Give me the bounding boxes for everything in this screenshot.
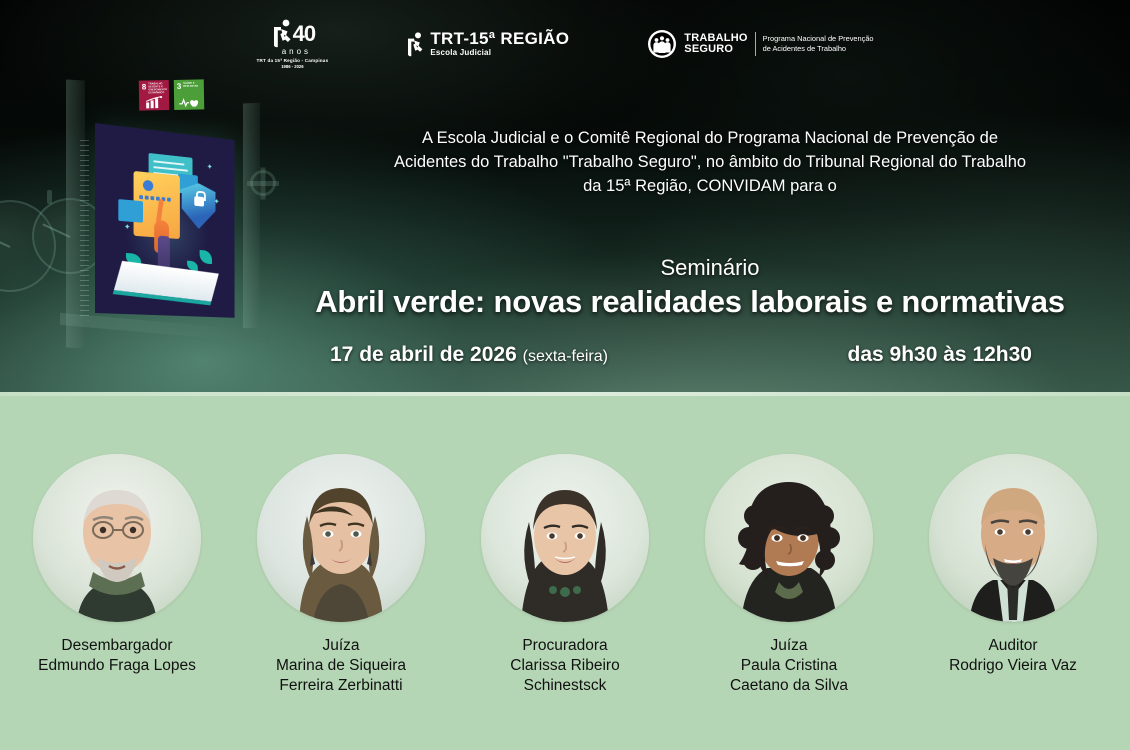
speaker-card: Juíza Marina de Siqueira Ferreira Zerbin… [255, 454, 427, 696]
logo-trt15: TRT-15ª REGIÃO Escola Judicial [406, 30, 569, 58]
speaker-name-line-2: Caetano da Silva [730, 676, 848, 696]
user-avatar-icon [143, 180, 153, 192]
event-schedule: 17 de abril de 2026 (sexta-feira) das 9h… [330, 343, 1090, 367]
data-security-illustration: ✦ ✦ ✦ [95, 123, 235, 318]
sparkle-icon: ✦ [207, 163, 213, 171]
sdg-badge-8: 8 TRABALHO DECENTE E CRESCIMENTO ECONÔMI… [139, 80, 170, 111]
people-circle-icon [647, 29, 677, 59]
logo-trt15-title: TRT-15ª REGIÃO [430, 30, 569, 47]
portrait-paula [705, 454, 873, 622]
logo-ts-line2: SEGURO [684, 44, 747, 55]
trt-runner-icon [406, 32, 425, 58]
sdg-title: SAÚDE E BEM-ESTAR [183, 82, 201, 88]
speaker-card: Procuradora Clarissa Ribeiro Schinestsck [479, 454, 651, 696]
invitation-line-1: A Escola Judicial e o Comitê Regional do… [300, 126, 1120, 150]
speaker-role: Auditor [949, 636, 1077, 656]
logo-ts-desc-line1: Programa Nacional de Prevenção [763, 34, 874, 44]
speaker-name: Juíza Paula Cristina Caetano da Silva [730, 636, 848, 696]
speaker-role: Juíza [730, 636, 848, 656]
logo-bar: 40 anos TRT da 15ª Região - Campinas 198… [0, 16, 1130, 72]
portrait-clarissa [481, 454, 649, 622]
event-title: Abril verde: novas realidades laborais e… [260, 283, 1120, 321]
image-icon [118, 199, 143, 223]
speaker-name-line-1: Clarissa Ribeiro [510, 656, 619, 676]
logo-trt15-subtitle: Escola Judicial [430, 48, 569, 57]
speaker-role: Desembargador [38, 636, 196, 656]
speaker-card: Desembargador Edmundo Fraga Lopes [31, 454, 203, 676]
speaker-name-line-2: Schinestsck [510, 676, 619, 696]
speaker-name: Auditor Rodrigo Vieira Vaz [949, 636, 1077, 676]
speaker-name-line-1: Edmundo Fraga Lopes [38, 656, 196, 676]
invitation-line-2: Acidentes do Trabalho "Trabalho Seguro",… [300, 150, 1120, 174]
logo-trabalho-seguro: TRABALHO SEGURO Programa Nacional de Pre… [647, 29, 873, 59]
speaker-card: Auditor Rodrigo Vieira Vaz [927, 454, 1099, 676]
logo-40-years: 1986 - 2026 [281, 64, 303, 69]
portrait-edmundo [33, 454, 201, 622]
speaker-name-line-2: Ferreira Zerbinatti [276, 676, 406, 696]
speaker-name-line-1: Marina de Siqueira [276, 656, 406, 676]
section-divider [0, 392, 1130, 396]
event-weekday: (sexta-feira) [523, 348, 608, 365]
speaker-name-line-1: Rodrigo Vieira Vaz [949, 656, 1077, 676]
event-time: das 9h30 às 12h30 [848, 343, 1090, 367]
speaker-name: Juíza Marina de Siqueira Ferreira Zerbin… [276, 636, 406, 696]
sparkle-icon: ✦ [124, 223, 130, 231]
background-easel-base [60, 313, 270, 343]
event-date: 17 de abril de 2026 (sexta-feira) [330, 343, 608, 367]
background-gauge-stem [47, 190, 52, 204]
background-easel-post [243, 103, 260, 329]
portrait-marina [257, 454, 425, 622]
logo-40-number: 40 [293, 24, 315, 44]
speaker-card: Juíza Paula Cristina Caetano da Silva [703, 454, 875, 696]
portrait-rodrigo [929, 454, 1097, 622]
lock-icon [194, 196, 204, 206]
background-cog-icon [250, 170, 276, 196]
sdg-badges: 8 TRABALHO DECENTE E CRESCIMENTO ECONÔMI… [139, 79, 205, 110]
poster-hero-background: 8 TRABALHO DECENTE E CRESCIMENTO ECONÔMI… [0, 0, 1130, 392]
speaker-role: Procuradora [510, 636, 619, 656]
sparkle-icon: ✦ [214, 198, 220, 206]
speaker-name: Procuradora Clarissa Ribeiro Schinestsck [510, 636, 619, 696]
heartbeat-icon [177, 89, 201, 109]
logo-divider [755, 32, 756, 56]
logo-40-anos-word: anos [282, 47, 311, 56]
sdg-badge-3: 3 SAÚDE E BEM-ESTAR [174, 79, 205, 110]
logo-40-subtitle: TRT da 15ª Região - Campinas [256, 58, 328, 63]
speaker-role: Juíza [276, 636, 406, 656]
background-ruler-icon [80, 140, 89, 320]
sdg-number: 8 [142, 83, 147, 90]
logo-40-anos: 40 anos TRT da 15ª Região - Campinas 198… [256, 19, 328, 69]
logo-ts-desc-line2: de Acidentes de Trabalho [763, 44, 874, 54]
speakers-list: Desembargador Edmundo Fraga Lopes [0, 454, 1130, 696]
event-kind: Seminário [300, 255, 1120, 281]
growth-chart-icon [142, 95, 166, 111]
speaker-name-line-1: Paula Cristina [730, 656, 848, 676]
invitation-text: A Escola Judicial e o Comitê Regional do… [300, 126, 1120, 198]
speakers-panel: Desembargador Edmundo Fraga Lopes [0, 392, 1130, 750]
speaker-name: Desembargador Edmundo Fraga Lopes [38, 636, 196, 676]
invitation-line-3: da 15ª Região, CONVIDAM para o [300, 174, 1120, 198]
event-date-value: 17 de abril de 2026 [330, 343, 517, 366]
sdg-title: TRABALHO DECENTE E CRESCIMENTO ECONÔMICO [148, 83, 167, 95]
event-poster: 8 TRABALHO DECENTE E CRESCIMENTO ECONÔMI… [0, 0, 1130, 750]
